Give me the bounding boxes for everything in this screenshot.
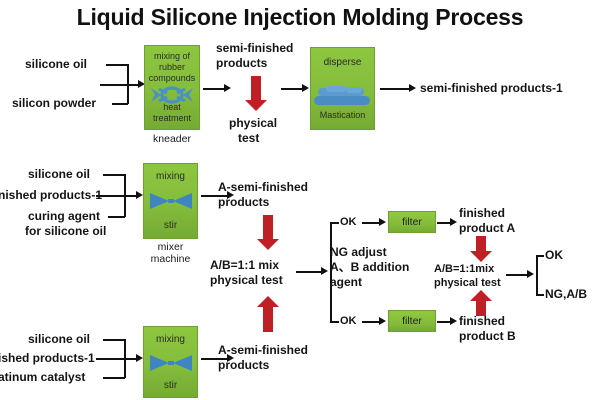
row2-output-line1: A-semi-finished [218,180,308,195]
row2-test-to-decision-line [296,271,322,273]
filter-b-label: filter [402,315,422,327]
final-bracket-arm-top [536,255,544,257]
row1-physical-test-red-arrow [245,76,267,112]
product-a-line1: finished [459,206,505,221]
decision-ng-line2: A、B addition [330,260,409,275]
kneader-bottom-caption: heat treatment [145,102,199,124]
filter-b-out-head [450,317,457,325]
ok-top-to-filter-head [379,218,386,226]
row2-test-to-decision-head [321,267,328,275]
product-b-line1: finished [459,314,505,329]
mixer-top-caption: mixing [144,171,197,182]
row1-semifinished-line1: semi-finished [216,41,293,56]
row2-input-curing-agent: curing agent [28,209,100,224]
row3-input-silicone-oil: silicone oil [28,332,90,347]
final-bracket-vertical [536,255,538,295]
mixer-box-row3[interactable]: mixing stir [143,326,198,398]
mixer-machine-box[interactable]: mixing stir [143,163,198,239]
row2-bracket-bottom [108,216,125,218]
final-test-to-bracket-head [527,270,534,278]
mastication-top-caption: disperse [311,57,374,68]
product-a-line2: product A [459,221,515,236]
ab-mix-test-line2: physical test [210,273,283,288]
mixer-bottom-caption: stir [144,220,197,231]
filter-b-out-line [437,321,451,323]
row3-bracket-bottom [103,377,125,379]
filter-a-out-line [437,222,451,224]
row3-bracket-stub [96,358,125,360]
final-test-to-bracket-line [506,274,528,276]
row1-input-silicone-oil: silicone oil [25,57,87,72]
row2-arrow-to-mixer-head [136,191,143,199]
page-title: Liquid Silicone Injection Molding Proces… [0,4,600,31]
row2-to-test-red-arrow [257,215,279,251]
decision-ok-top: OK [340,215,357,230]
product-b-line2: product B [459,329,516,344]
kneader-label: kneader [144,133,200,145]
mastication-bottom-caption: Mastication [311,110,374,121]
row1-arrow2-head [302,84,309,92]
row2-input-silicone-oil: silicone oil [28,167,90,182]
row1-physical-test-line1: physical [229,116,277,131]
bowtie-stirrer-icon [144,191,197,211]
kneader-top-caption: mixing of rubber compounds [145,51,199,84]
row1-arrow1-line [203,88,225,90]
row3-input-semifinished-products-1: ished products-1 [0,351,95,366]
kneader-box[interactable]: mixing of rubber compounds heat treatmen… [144,45,200,130]
row1-bracket-bottom [112,103,128,105]
filter-a-label: filter [402,216,422,228]
row3-output-line2: products [218,358,269,373]
row3-input-platinum-catalyst: atinum catalyst [0,370,85,385]
filter-a-out-head [450,218,457,226]
product-b-to-final-test-red-arrow [470,290,492,316]
row1-bracket-stub [100,84,128,86]
row3-arrow-to-mixer-head [136,354,143,362]
ok-bottom-to-filter-head [379,317,386,325]
row1-bracket-top [106,64,128,66]
mastication-rollers-icon [311,84,374,108]
mixer-row3-bottom-caption: stir [144,380,197,391]
row3-to-test-red-arrow [257,296,279,332]
filter-a-box[interactable]: filter [388,211,436,233]
row3-bracket-top [103,339,125,341]
row1-arrow3-line [380,88,410,90]
final-bracket-arm-bottom [536,294,544,296]
row1-arrow2-line [281,88,303,90]
bowtie-stirrer-icon [144,353,197,373]
final-test-line2: physical test [434,276,501,291]
decision-bracket-arm-top [330,222,339,224]
mastication-box[interactable]: disperse Mastication [310,47,375,130]
row1-arrow3-head [409,84,416,92]
final-ng-label: NG,A/B [545,287,587,302]
row1-physical-test-line2: test [238,131,259,146]
row2-input-semifinished-products-1: nished products-1 [0,188,102,203]
diagram-canvas: Liquid Silicone Injection Molding Proces… [0,0,600,400]
final-test-line1: A/B=1:1mix [434,262,494,277]
decision-ok-bottom: OK [340,314,357,329]
final-ok-label: OK [545,248,563,263]
ok-bottom-to-filter-line [362,321,380,323]
row1-input-silicon-powder: silicon powder [12,96,96,111]
ok-top-to-filter-line [362,222,380,224]
ab-mix-test-line1: A/B=1:1 mix [210,258,279,273]
row1-semifinished-line2: products [216,56,267,71]
filter-b-box[interactable]: filter [388,310,436,332]
row1-arrow1-head [224,84,231,92]
product-a-to-final-test-red-arrow [470,236,492,262]
row2-input-for-silicone-oil: for silicone oil [25,224,106,239]
decision-ng-line3: agent [330,275,362,290]
row1-output-label: semi-finished products-1 [420,81,563,96]
decision-ng-line1: NG adjust [330,245,387,260]
mixer-machine-label: mixer machine [143,241,198,265]
decision-bracket-arm-bottom [330,321,339,323]
row2-bracket-top [103,174,125,176]
row2-bracket-stub [96,195,125,197]
row2-output-line2: products [218,195,269,210]
mixer-row3-top-caption: mixing [144,334,197,345]
row3-output-line1: A-semi-finished [218,343,308,358]
